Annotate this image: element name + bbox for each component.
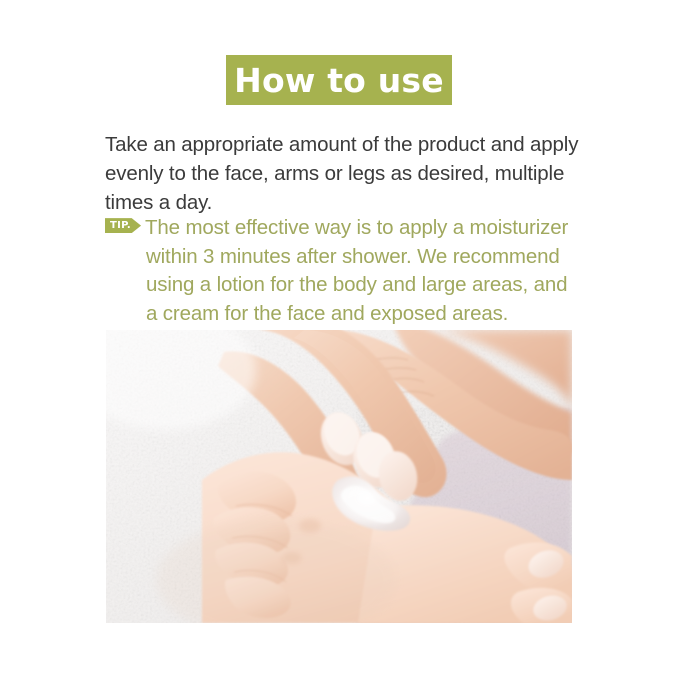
how-to-use-page: How to use Take an appropriate amount of… xyxy=(0,0,679,679)
page-title-banner: How to use xyxy=(226,55,452,105)
tip-paragraph: TIP.The most effective way is to apply a… xyxy=(105,214,579,328)
tip-badge: TIP. xyxy=(105,218,141,233)
instructions-block: Take an appropriate amount of the produc… xyxy=(105,130,579,217)
page-title: How to use xyxy=(234,64,444,97)
how-to-use-photo xyxy=(106,330,572,623)
photo-illustration xyxy=(106,330,572,623)
tip-block: TIP.The most effective way is to apply a… xyxy=(105,214,579,328)
tip-text: The most effective way is to apply a moi… xyxy=(145,216,568,325)
instructions-paragraph: Take an appropriate amount of the produc… xyxy=(105,130,579,217)
